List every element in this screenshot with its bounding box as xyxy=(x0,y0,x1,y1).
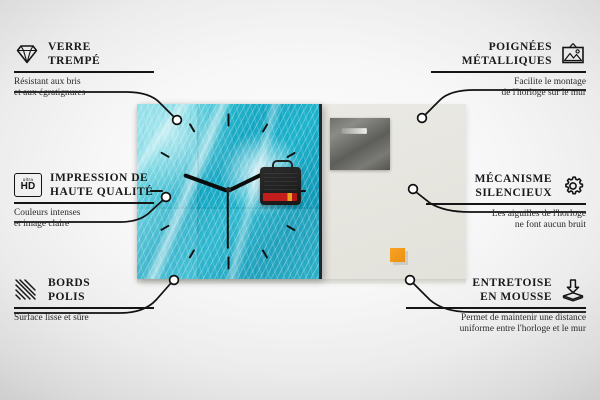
clock-tick xyxy=(227,113,229,126)
divider xyxy=(14,307,154,309)
picture-frame-icon xyxy=(560,42,586,66)
feature-title: MÉCANISME SILENCIEUX xyxy=(475,172,552,200)
second-hand xyxy=(227,191,229,249)
feature-entretoise-mousse: ENTRETOISE EN MOUSSE Permet de maintenir… xyxy=(406,276,586,336)
divider xyxy=(431,71,586,73)
divider xyxy=(14,202,154,204)
feature-desc-line2: ne font aucun bruit xyxy=(426,220,586,232)
metal-hanger-plate xyxy=(330,118,390,170)
product-photo xyxy=(137,104,466,279)
feature-desc-line1: Les aiguilles de l'horloge xyxy=(426,209,586,221)
feature-header: BORDS POLIS xyxy=(14,276,154,304)
foam-spacer-icon xyxy=(560,278,586,302)
feature-desc-line1: Facilite le montage xyxy=(431,77,586,89)
gear-icon xyxy=(560,174,586,198)
divider xyxy=(426,203,586,205)
feature-header: ENTRETOISE EN MOUSSE xyxy=(406,276,586,304)
feature-desc-line1: Permet de maintenir une distance xyxy=(406,313,586,325)
feature-desc-line1: Surface lisse et sûre xyxy=(14,313,154,325)
feature-title: VERRE TREMPÉ xyxy=(48,40,100,68)
feature-desc-line1: Couleurs intenses xyxy=(14,208,154,220)
battery xyxy=(263,193,297,201)
mechanism-hook xyxy=(272,160,293,171)
hanger-slot xyxy=(341,128,367,134)
divider xyxy=(14,71,154,73)
feature-title: IMPRESSION DE HAUTE QUALITÉ xyxy=(50,171,153,199)
feature-title: BORDS POLIS xyxy=(48,276,90,304)
feature-header: VERRE TREMPÉ xyxy=(14,40,154,68)
feature-title: POIGNÉES MÉTALLIQUES xyxy=(462,40,552,68)
infographic-canvas: VERRE TREMPÉ Résistant aux bris et aux é… xyxy=(0,0,600,400)
feature-header: ultra HD IMPRESSION DE HAUTE QUALITÉ xyxy=(14,171,154,199)
feature-verre-trempe: VERRE TREMPÉ Résistant aux bris et aux é… xyxy=(14,40,154,100)
feature-desc-line1: Résistant aux bris xyxy=(14,77,154,89)
feature-desc-line2: de l'horloge sur le mur xyxy=(431,88,586,100)
foam-spacer xyxy=(390,248,405,262)
ultra-hd-large-text: HD xyxy=(21,182,36,192)
feature-header: POIGNÉES MÉTALLIQUES xyxy=(431,40,586,68)
feature-desc-line2: uniforme entre l'horloge et le mur xyxy=(406,324,586,336)
diamond-icon xyxy=(14,42,40,66)
mechanism-texture xyxy=(264,172,297,190)
clock-mechanism xyxy=(260,167,301,205)
feature-mecanisme-silencieux: MÉCANISME SILENCIEUX Les aiguilles de l'… xyxy=(426,172,586,232)
feature-desc-line2: et aux égratignures xyxy=(14,88,154,100)
polished-edge-icon xyxy=(14,278,40,302)
feature-header: MÉCANISME SILENCIEUX xyxy=(426,172,586,200)
feature-poignees-metalliques: POIGNÉES MÉTALLIQUES Facilite le montage… xyxy=(431,40,586,100)
clock-tick xyxy=(227,256,229,269)
feature-bords-polis: BORDS POLIS Surface lisse et sûre xyxy=(14,276,154,324)
clock-center-cap xyxy=(226,187,231,192)
feature-impression-hd: ultra HD IMPRESSION DE HAUTE QUALITÉ Cou… xyxy=(14,171,154,231)
divider xyxy=(406,307,586,309)
ultra-hd-icon: ultra HD xyxy=(14,173,42,197)
feature-desc-line2: et image claire xyxy=(14,219,154,231)
feature-title: ENTRETOISE EN MOUSSE xyxy=(472,276,552,304)
